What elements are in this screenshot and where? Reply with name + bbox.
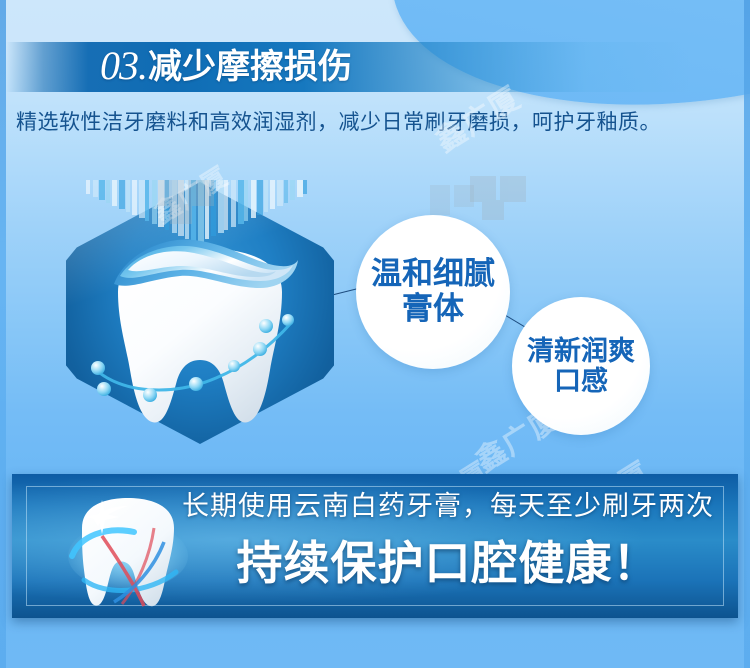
callout-bubble-gentle-paste[interactable]: 温和细腻 膏体 [356, 215, 510, 369]
tooth-and-paste-illustration [84, 218, 316, 433]
callout-line-2: 膏体 [402, 292, 464, 327]
page-title: 03 . 减少摩擦损伤 [100, 38, 352, 96]
watermark-logo-icon [470, 176, 530, 220]
subtitle-text: 精选软性洁牙磨料和高效润湿剂，减少日常刷牙磨损，呵护牙釉质。 [16, 106, 736, 136]
callout-line-1: 清新润爽 [527, 336, 635, 366]
banner-headline: 持续保护口腔健康！ [168, 527, 728, 593]
callout-line-1: 温和细腻 [371, 257, 495, 292]
callout-line-2: 口感 [554, 366, 608, 396]
banner-subtitle: 长期使用云南白药牙膏，每天至少刷牙两次 [168, 484, 728, 523]
hexagon-graphic [66, 182, 334, 444]
callout-bubble-fresh-taste[interactable]: 清新润爽 口感 [512, 297, 650, 435]
banner-text-block: 长期使用云南白药牙膏，每天至少刷牙两次 持续保护口腔健康！ [168, 484, 728, 593]
title-separator: . [138, 46, 147, 86]
right-edge-strip [744, 0, 750, 668]
title-number: 03 [100, 46, 138, 86]
product-detail-page: 03 . 减少摩擦损伤 精选软性洁牙磨料和高效润湿剂，减少日常刷牙磨损，呵护牙釉… [0, 0, 750, 668]
watermark-logo-icon [430, 185, 474, 215]
title-label: 减少摩擦损伤 [148, 50, 352, 84]
left-edge-strip [0, 0, 6, 668]
